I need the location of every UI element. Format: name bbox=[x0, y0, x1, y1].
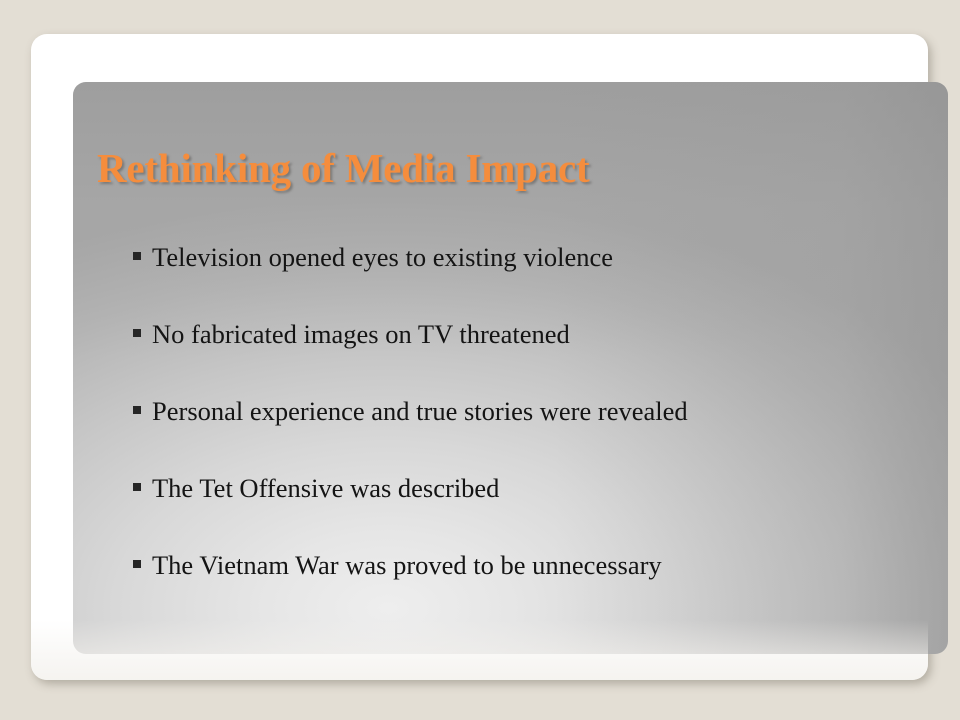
bullet-list: Television opened eyes to existing viole… bbox=[133, 242, 918, 627]
square-bullet-icon bbox=[133, 483, 141, 491]
list-item: Personal experience and true stories wer… bbox=[133, 396, 918, 473]
square-bullet-icon bbox=[133, 560, 141, 568]
slide-content-panel: Rethinking of Media Impact Television op… bbox=[73, 82, 948, 654]
list-item: No fabricated images on TV threatened bbox=[133, 319, 918, 396]
list-item-label: Personal experience and true stories wer… bbox=[152, 396, 688, 426]
list-item: Television opened eyes to existing viole… bbox=[133, 242, 918, 319]
square-bullet-icon bbox=[133, 252, 141, 260]
list-item-label: The Vietnam War was proved to be unneces… bbox=[152, 550, 662, 580]
list-item-label: No fabricated images on TV threatened bbox=[152, 319, 570, 349]
list-item: The Tet Offensive was described bbox=[133, 473, 918, 550]
list-item-label: Television opened eyes to existing viole… bbox=[152, 242, 613, 272]
page-title: Rethinking of Media Impact bbox=[97, 144, 590, 192]
slide-card: Rethinking of Media Impact Television op… bbox=[31, 34, 928, 680]
list-item: The Vietnam War was proved to be unneces… bbox=[133, 550, 918, 627]
list-item-label: The Tet Offensive was described bbox=[152, 473, 499, 503]
square-bullet-icon bbox=[133, 329, 141, 337]
square-bullet-icon bbox=[133, 406, 141, 414]
